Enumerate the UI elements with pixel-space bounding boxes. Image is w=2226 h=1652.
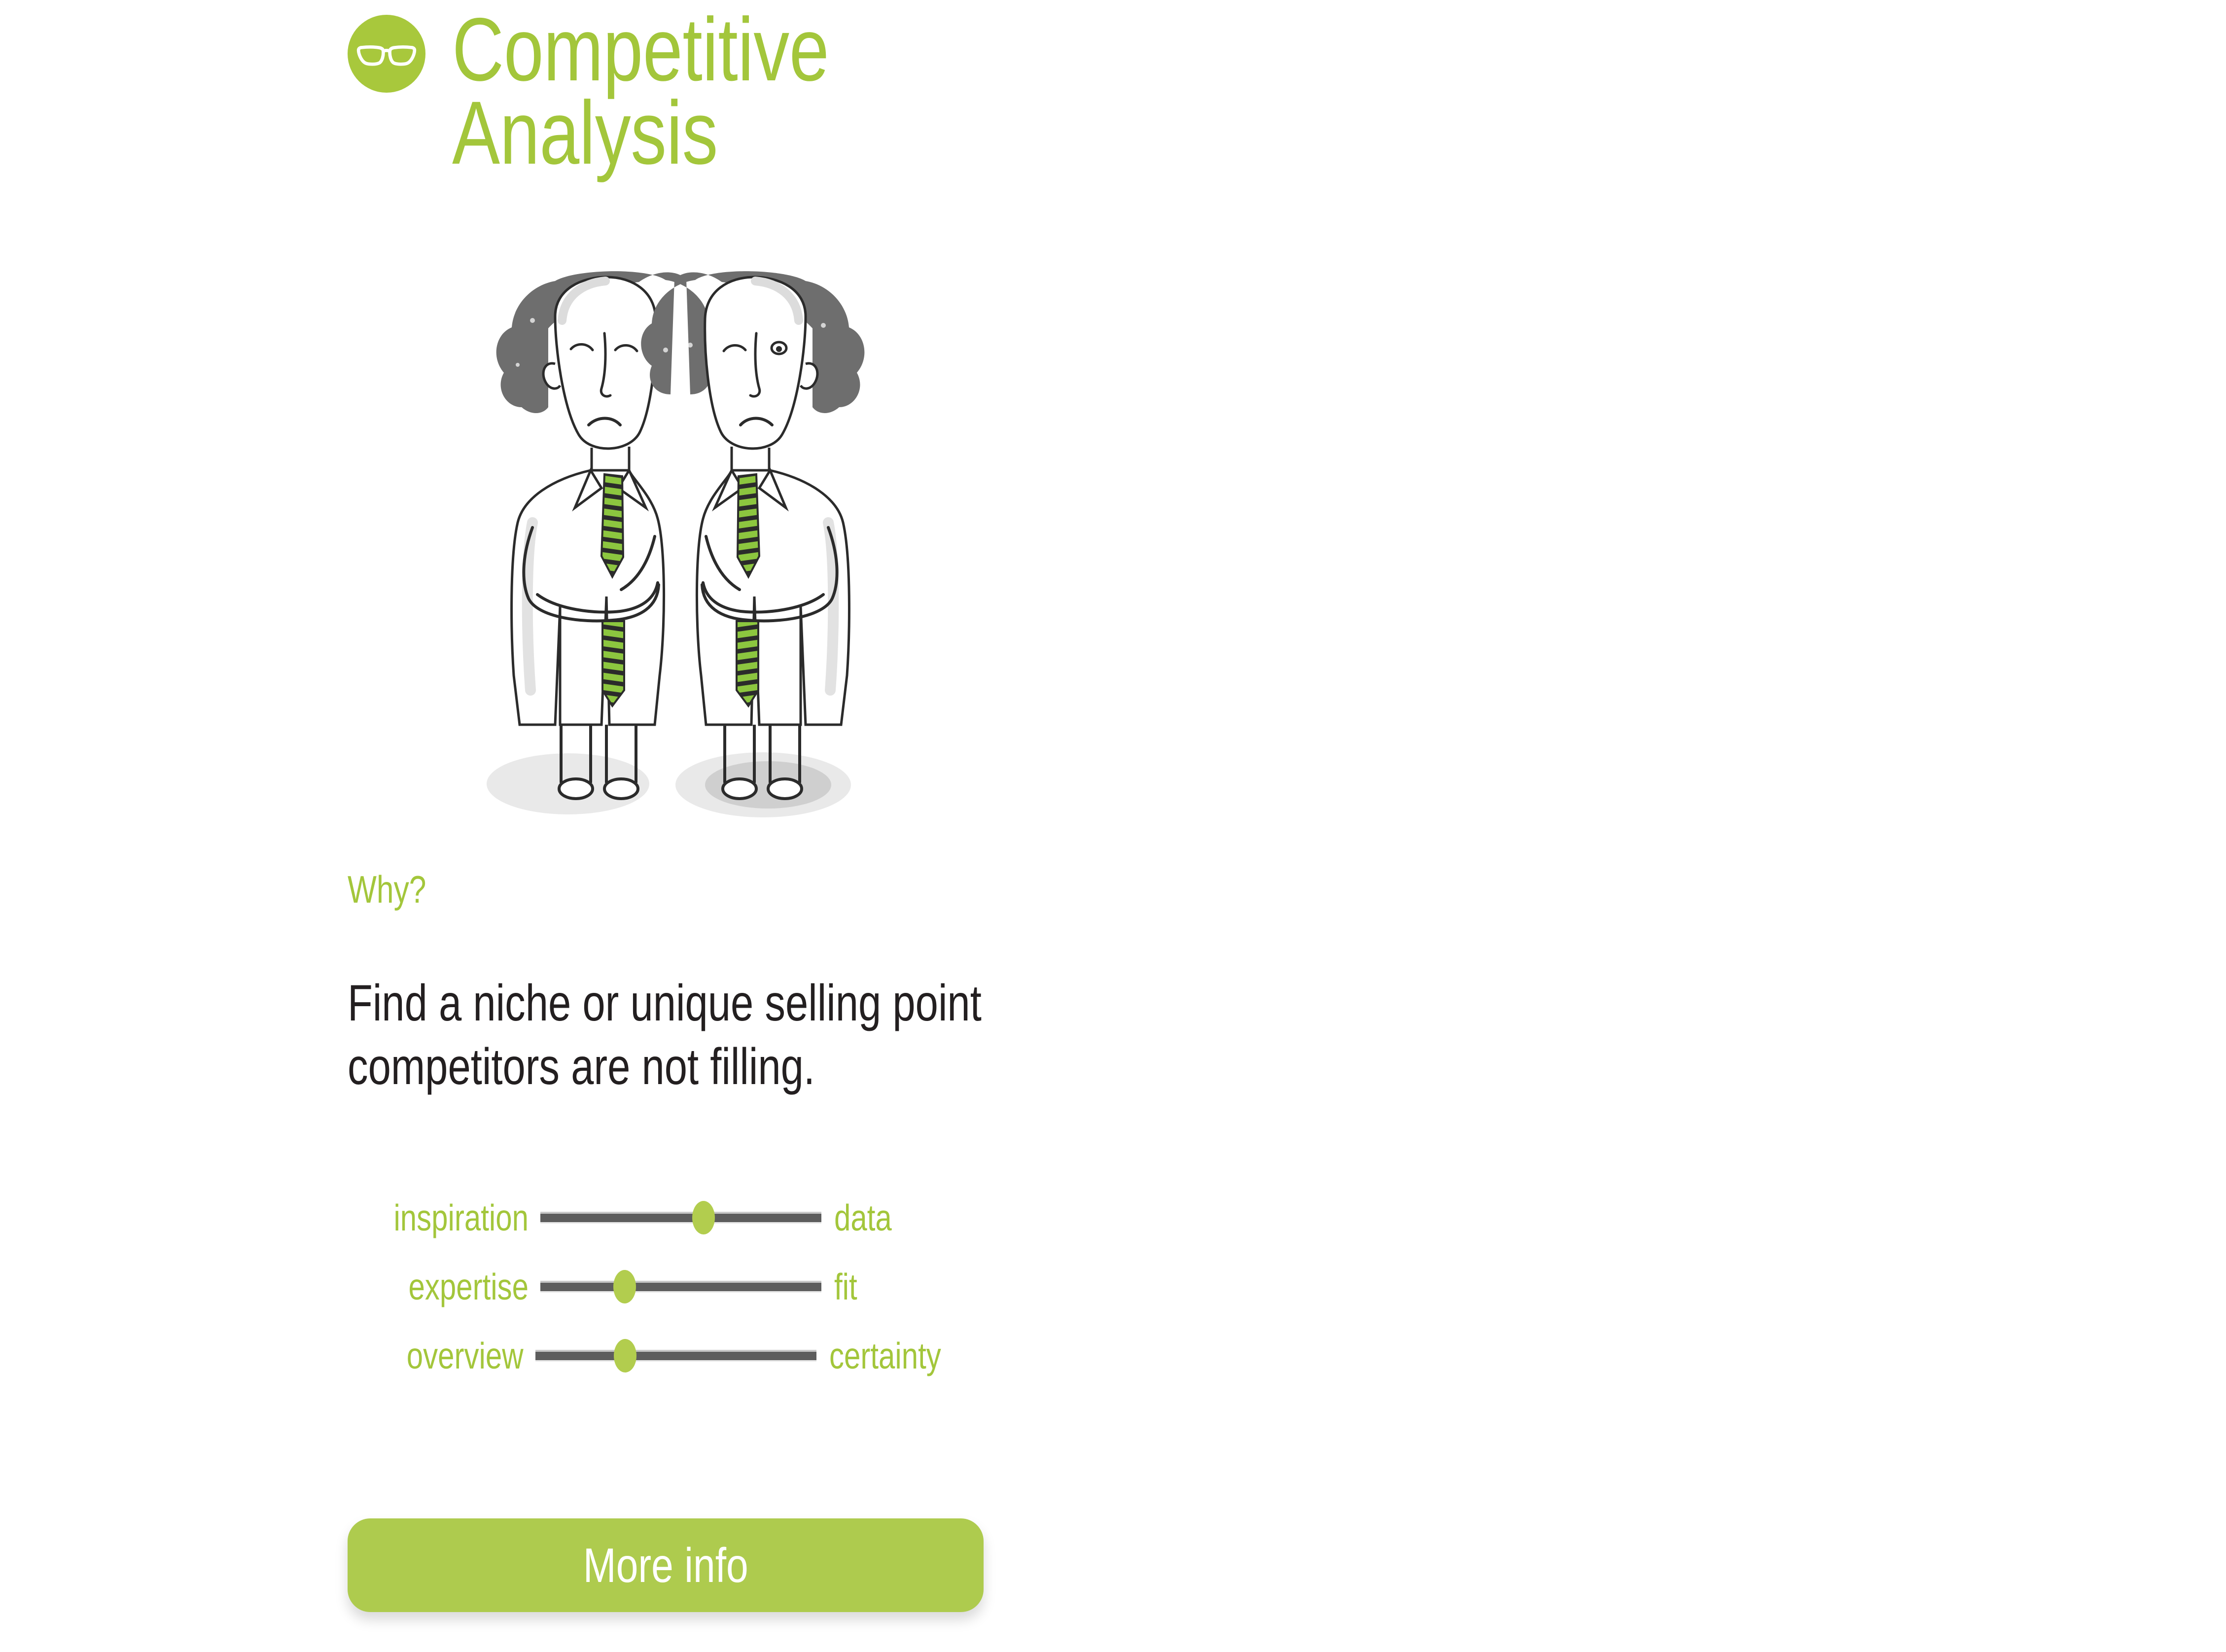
why-block: Why? Find a niche or unique selling poin… [348, 870, 989, 1099]
slider-thumb[interactable] [692, 1201, 715, 1234]
slider-track[interactable] [540, 1212, 821, 1224]
card-competitive-analysis: Competitive Analysis [0, 0, 1109, 1652]
slider-expertise-fit[interactable]: expertise fit [348, 1252, 969, 1321]
slider-thumb[interactable] [613, 1270, 636, 1303]
more-info-button-label: More info [583, 1541, 748, 1589]
page-root: Competitive Analysis [0, 0, 2226, 1652]
card-header: Competitive Analysis [348, 15, 896, 175]
card-title: Competitive Analysis [452, 8, 807, 175]
slider-thumb[interactable] [614, 1339, 636, 1372]
slider-track[interactable] [535, 1350, 816, 1362]
slider-left-label: expertise [384, 1268, 529, 1305]
slider-left-label: overview [383, 1337, 523, 1374]
slider-track-wrap[interactable] [535, 1341, 816, 1371]
slider-track-wrap[interactable] [540, 1272, 821, 1301]
slider-group: inspiration data expertise fit overview [348, 1183, 969, 1390]
why-text: Find a niche or unique selling point com… [348, 972, 998, 1099]
two-scientists-illustration [459, 232, 902, 853]
why-label: Why? [348, 870, 505, 909]
slider-track[interactable] [540, 1281, 821, 1293]
slider-track-wrap[interactable] [540, 1203, 821, 1232]
glasses-icon [348, 15, 425, 93]
slider-left-label: inspiration [384, 1199, 529, 1236]
slider-overview-certainty[interactable]: overview certainty [348, 1321, 969, 1390]
more-info-button[interactable]: More info [348, 1518, 984, 1612]
slider-right-label: certainty [829, 1337, 941, 1374]
slider-right-label: fit [834, 1268, 942, 1305]
card-trend-analysis: Trend analysis [1109, 0, 2226, 1652]
slider-inspiration-data[interactable]: inspiration data [348, 1183, 969, 1252]
slider-right-label: data [834, 1199, 942, 1236]
